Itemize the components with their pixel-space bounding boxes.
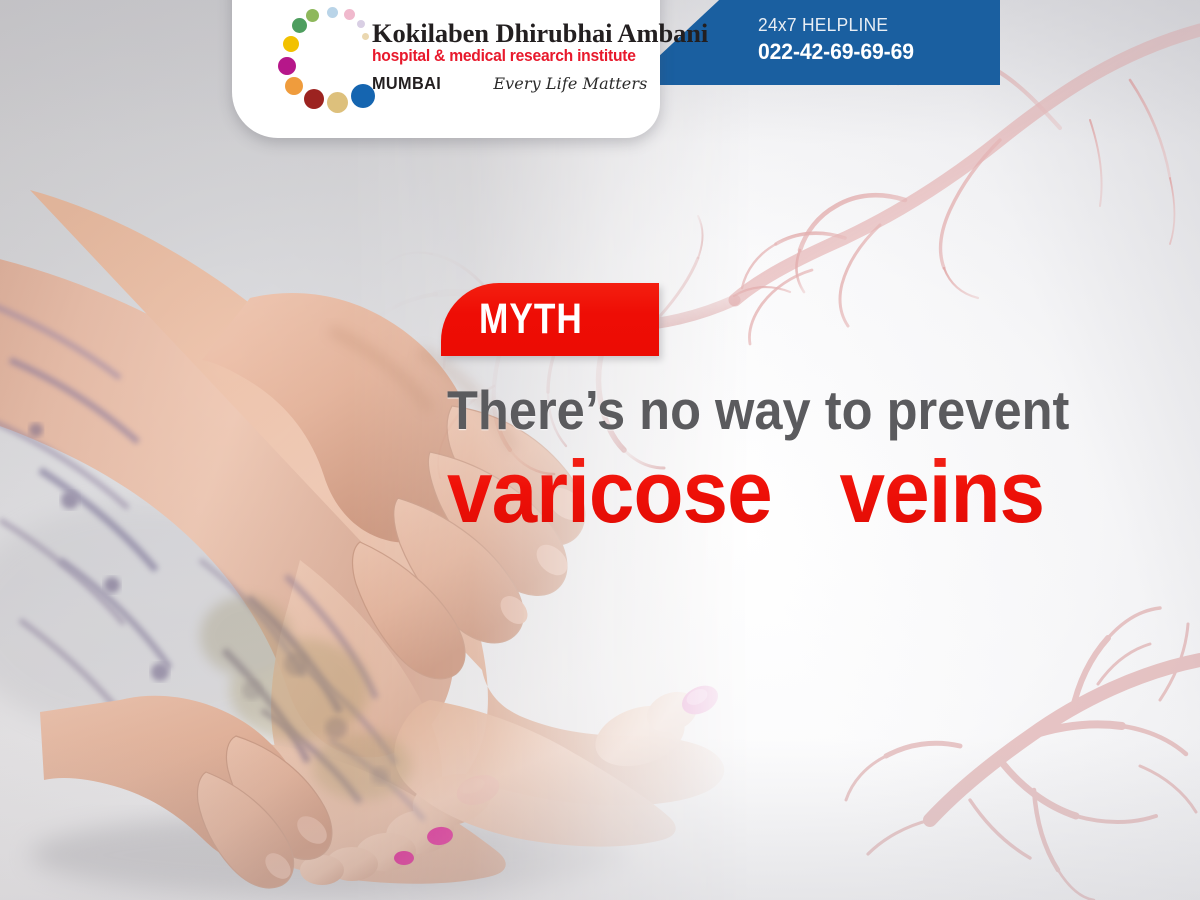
hospital-tagline: Every Life Matters [493, 74, 647, 93]
myth-badge-label: MYTH [479, 295, 583, 343]
logo-bottom-row: MUMBAI Every Life Matters [372, 73, 708, 94]
logo-dot-3 [357, 20, 365, 28]
logo-dot-4 [362, 33, 369, 40]
logo-dot-7 [278, 57, 296, 75]
hospital-name: Kokilaben Dhirubhai Ambani [372, 20, 708, 47]
myth-badge: MYTH [441, 283, 659, 356]
headline-text: There’s no way to prevent [447, 381, 1069, 439]
logo-dot-ring-icon [284, 7, 376, 105]
logo-dot-0 [306, 9, 319, 22]
logo-dot-1 [327, 7, 338, 18]
helpline-label: 24x7 HELPLINE [758, 13, 911, 38]
subject-text: varicose veins [447, 446, 1044, 538]
subject-word-1: varicose [447, 442, 772, 541]
subject-word-2: veins [840, 442, 1045, 541]
hospital-logo-card[interactable]: Kokilaben Dhirubhai Ambani hospital & me… [232, 0, 660, 138]
logo-inner: Kokilaben Dhirubhai Ambani hospital & me… [232, 4, 660, 108]
hospital-subtitle: hospital & medical research institute [372, 46, 696, 68]
logo-text-block: Kokilaben Dhirubhai Ambani hospital & me… [372, 18, 708, 94]
logo-dot-6 [283, 36, 299, 52]
helpline-text-group: 24x7 HELPLINE 022-42-69-69-69 [758, 13, 920, 67]
poster-canvas: 24x7 HELPLINE 022-42-69-69-69 Kokilaben … [0, 0, 1200, 900]
logo-dot-5 [292, 18, 307, 33]
logo-dot-10 [327, 92, 348, 113]
logo-dot-8 [285, 77, 303, 95]
logo-dot-9 [304, 89, 324, 109]
helpline-phone-number[interactable]: 022-42-69-69-69 [758, 38, 914, 67]
hospital-city: MUMBAI [372, 73, 441, 94]
logo-dot-2 [344, 9, 355, 20]
